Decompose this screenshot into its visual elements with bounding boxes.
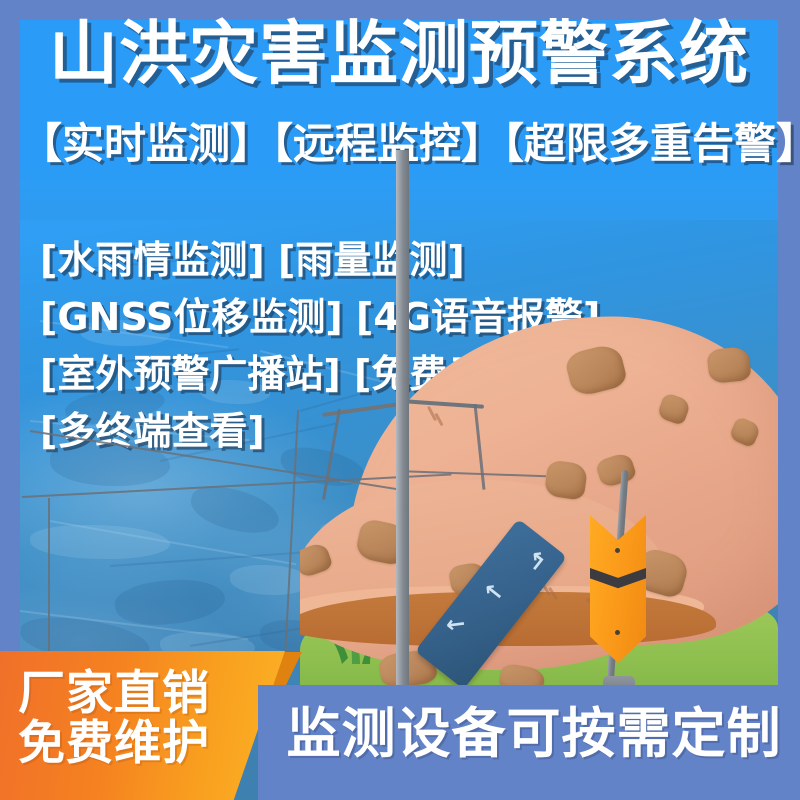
bottom-bar-text: 监测设备可按需定制 — [270, 704, 798, 764]
monitoring-mast — [396, 150, 409, 695]
landslide-illustration: ↰ ← ↙ — [300, 300, 778, 700]
sign-rivet-dot — [615, 630, 620, 635]
arrow-up-left-icon: ↰ — [520, 547, 549, 577]
feature-item: [水雨情监测] [雨量监测] — [40, 232, 640, 289]
bottom-bar: 监测设备可按需定制 — [258, 685, 800, 800]
page-title: 山洪灾害监测预警系统 — [20, 18, 778, 90]
sign-rivet-dot — [615, 548, 620, 553]
arrow-left-icon: ← — [479, 577, 508, 607]
guy-wire — [48, 498, 50, 658]
promo-line-1: 厂家直销 — [18, 669, 210, 719]
poster-root: 山洪灾害监测预警系统 【实时监测】【远程监控】【超限多重告警】 [水雨情监测] … — [0, 0, 800, 800]
rock — [706, 346, 751, 384]
promo-line-2: 免费维护 — [18, 719, 210, 769]
arrow-down-left-icon: ↙ — [440, 611, 469, 641]
